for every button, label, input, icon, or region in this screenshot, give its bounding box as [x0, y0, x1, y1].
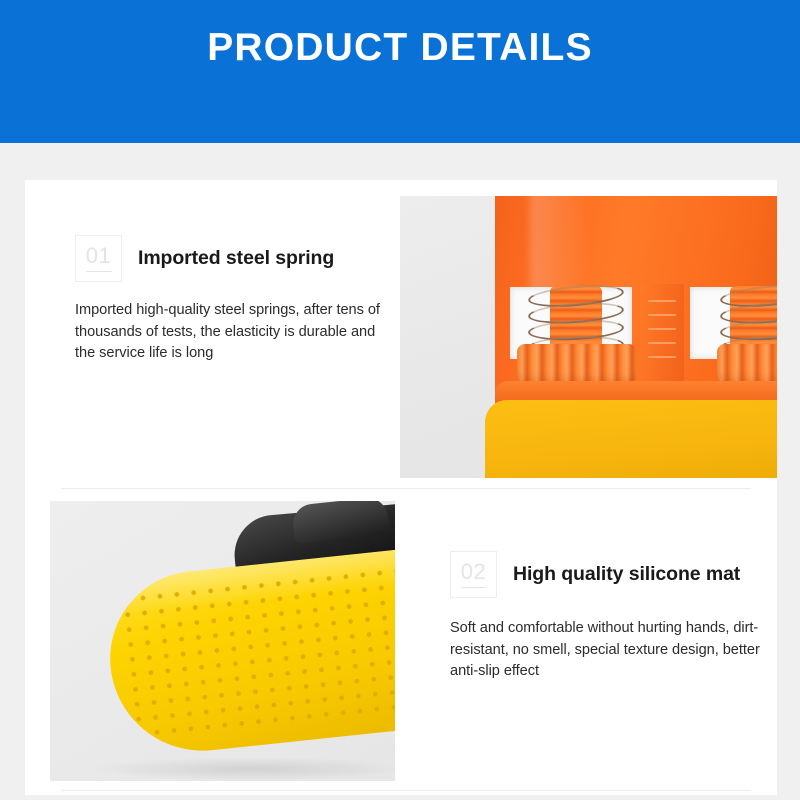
page-header-banner: PRODUCT DETAILS: [0, 0, 800, 143]
silicone-mat-dot-texture: [117, 560, 395, 746]
feature-row-02: 02 High quality silicone mat Soft and co…: [25, 489, 777, 795]
silicone-mat-yellow: [101, 546, 395, 760]
feature-number-label-02: 02: [461, 561, 486, 583]
feature-number-label-01: 01: [86, 245, 111, 267]
feature-heading-row-01: 01 Imported steel spring: [75, 235, 395, 282]
feature-title-01: Imported steel spring: [138, 246, 334, 271]
feature-text-02: 02 High quality silicone mat Soft and co…: [450, 551, 770, 683]
grip-knob-right: [717, 344, 777, 384]
grip-center-rib: [640, 284, 684, 389]
feature-number-badge-01: 01: [75, 235, 122, 282]
feature-heading-row-02: 02 High quality silicone mat: [450, 551, 770, 598]
content-panel: 01 Imported steel spring Imported high-q…: [25, 180, 777, 795]
grip-knob-left: [517, 344, 637, 384]
product-details-page: PRODUCT DETAILS 01 Imported steel spring…: [0, 0, 800, 800]
feature-description-02: Soft and comfortable without hurting han…: [450, 618, 770, 683]
grip-yellow-base: [485, 400, 777, 478]
page-title: PRODUCT DETAILS: [0, 25, 800, 71]
feature-image-01: [400, 196, 777, 478]
feature-row-01: 01 Imported steel spring Imported high-q…: [25, 180, 777, 488]
feature-number-badge-02: 02: [450, 551, 497, 598]
feature-description-01: Imported high-quality steel springs, aft…: [75, 300, 395, 365]
feature-text-01: 01 Imported steel spring Imported high-q…: [75, 235, 395, 365]
silicone-mat-shadow: [90, 757, 395, 781]
row-divider-bottom: [61, 790, 751, 791]
feature-title-02: High quality silicone mat: [513, 562, 740, 587]
feature-image-02: [50, 501, 395, 781]
